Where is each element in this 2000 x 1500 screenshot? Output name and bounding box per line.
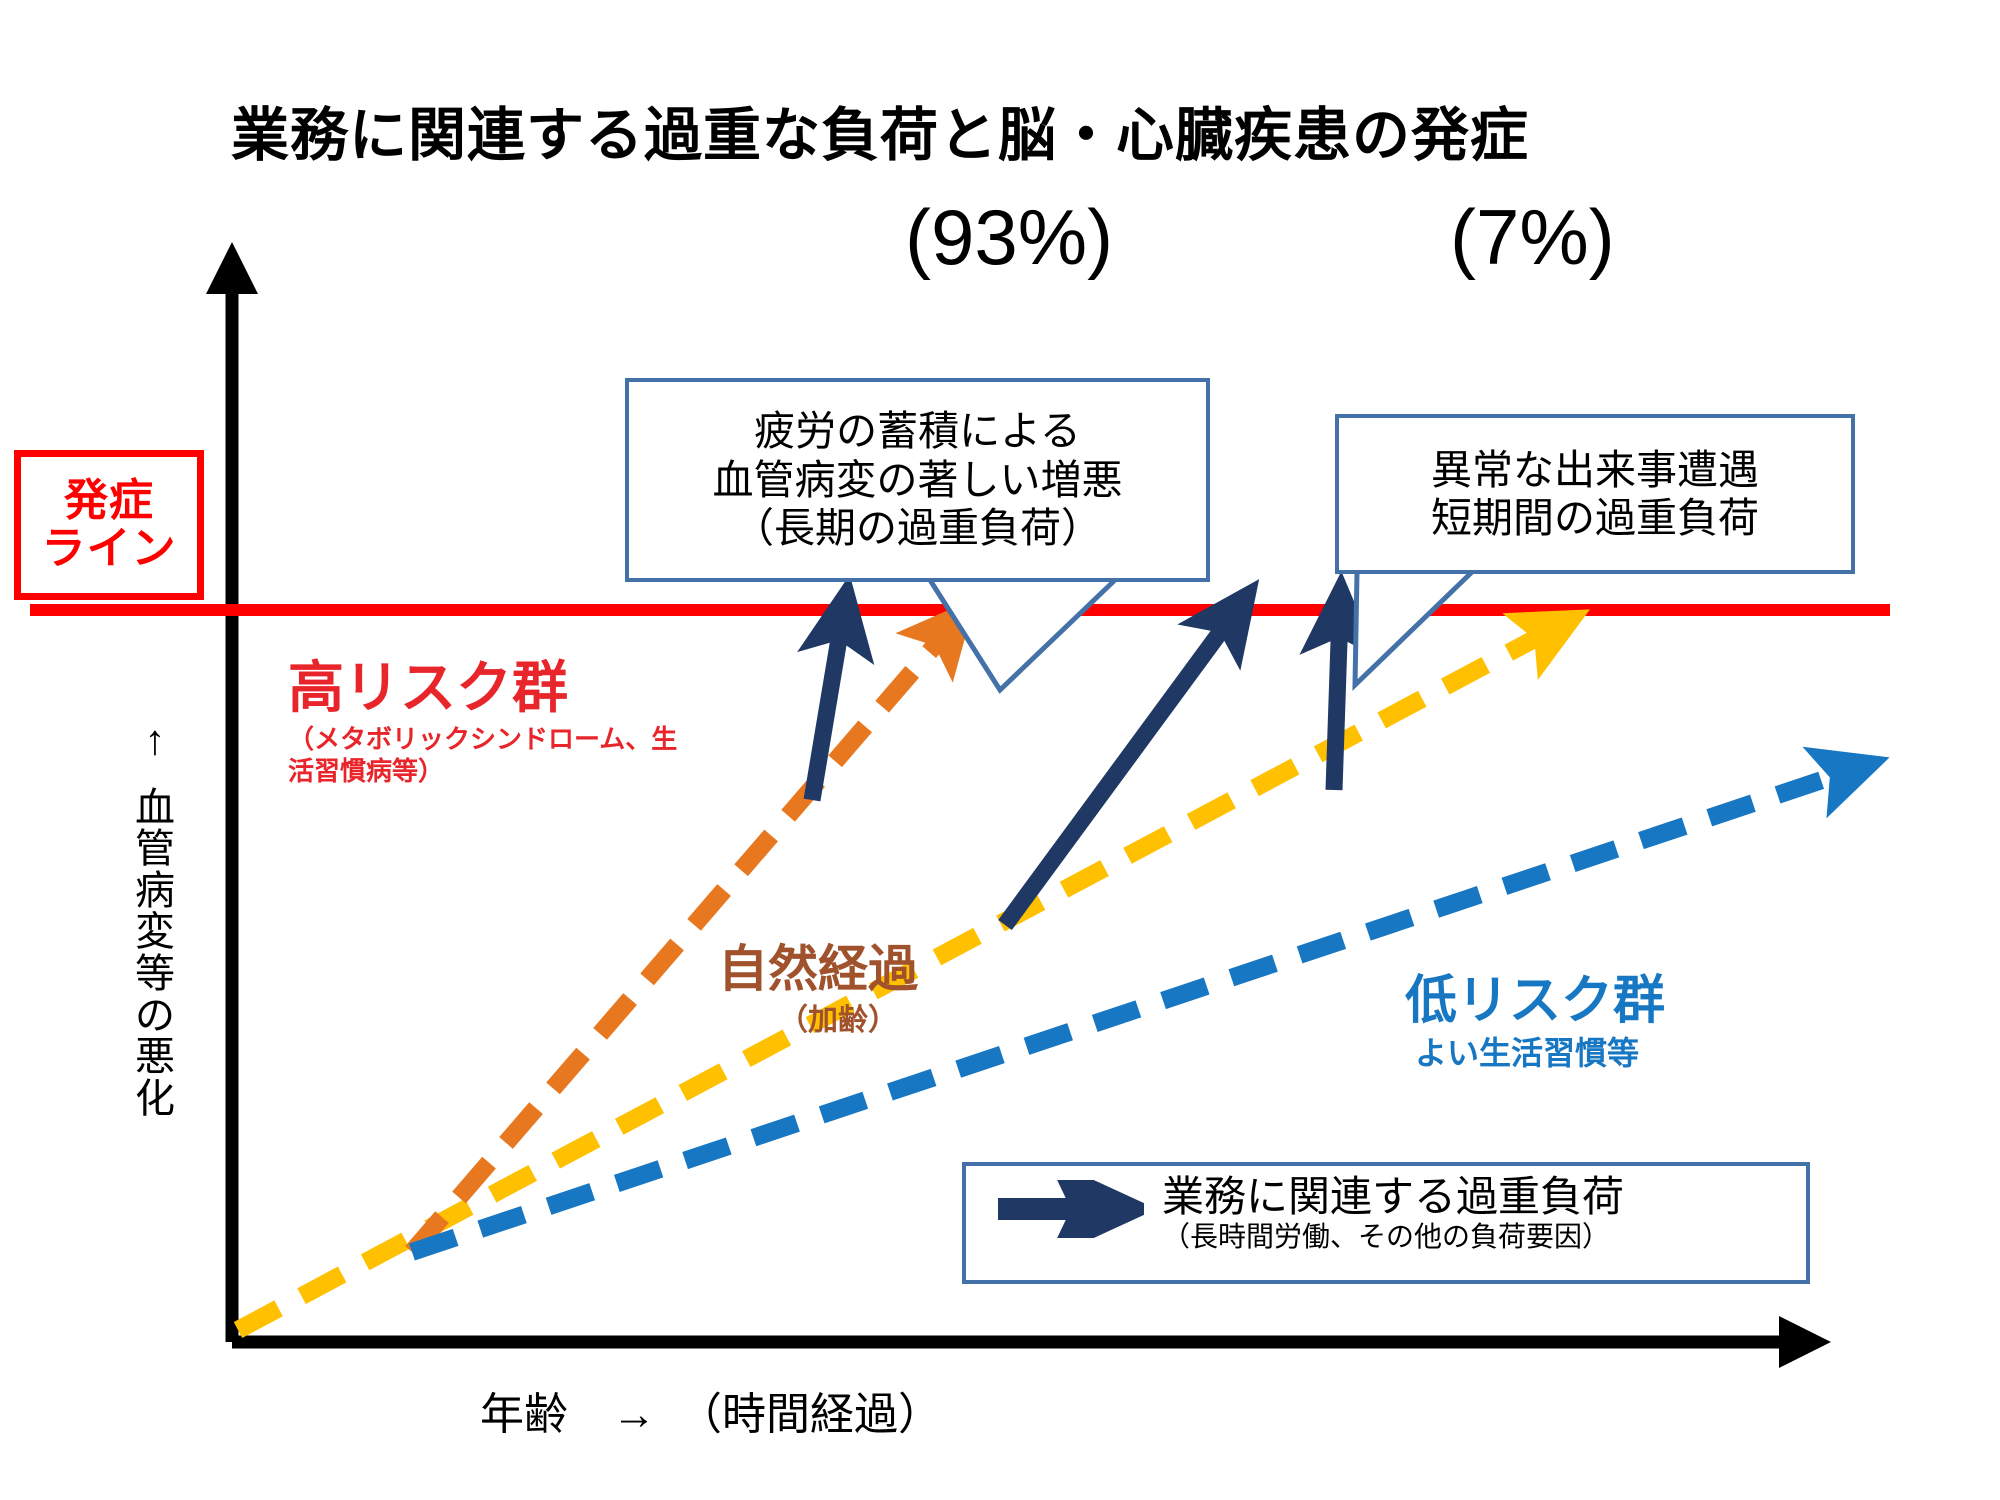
x-axis-label: 年齢 → （時間経過）	[480, 1378, 942, 1442]
onset-line-label-1: 発症	[64, 477, 154, 525]
high-risk-subtitle-line-1: （メタボリックシンドローム、生	[288, 724, 677, 756]
overload-arrow-icon	[994, 1180, 1144, 1238]
low-risk-subtitle: よい生活習慣等	[1415, 1037, 1665, 1069]
high-risk-title: 高リスク群	[288, 660, 677, 716]
natural-course-subtitle: （加齢）	[778, 1006, 918, 1036]
y-axis-char: 管	[120, 829, 190, 871]
y-axis-char: 変	[120, 912, 190, 954]
callout-tail-right	[1355, 572, 1472, 685]
y-axis-arrow-glyph: ↑	[120, 718, 190, 762]
percent-label-long-term: (93%)	[905, 192, 1113, 283]
overload-arrow-high-risk	[812, 615, 843, 800]
diagram-canvas: 業務に関連する過重な負荷と脳・心臓疾患の発症 (93%) (7%) 発症 ライン…	[0, 0, 2000, 1500]
callout-left-line-3: （長期の過重負荷）	[733, 504, 1102, 552]
callout-tail-left	[930, 580, 1115, 690]
page-title: 業務に関連する過重な負荷と脳・心臓疾患の発症	[0, 88, 1760, 172]
callout-left-line-2: 血管病変の著しい増悪	[713, 456, 1123, 504]
y-axis-char: 血	[120, 788, 190, 830]
high-risk-subtitle: （メタボリックシンドローム、生 活習慣病等）	[288, 724, 677, 787]
label-high-risk-group: 高リスク群 （メタボリックシンドローム、生 活習慣病等）	[288, 660, 677, 787]
y-axis-char: 等	[120, 954, 190, 996]
low-risk-title: 低リスク群	[1405, 975, 1665, 1027]
high-risk-subtitle-line-2: 活習慣病等）	[288, 756, 677, 788]
y-axis-char: 化	[120, 1079, 190, 1121]
callout-left-line-1: 疲労の蓄積による	[754, 407, 1081, 455]
y-axis-label: ↑ 血 管 病 変 等 の 悪 化	[120, 718, 190, 1120]
callout-short-term-overload: 異常な出来事遭遇 短期間の過重負荷	[1335, 414, 1855, 574]
y-axis-char: 悪	[120, 1037, 190, 1079]
label-natural-course: 自然経過 （加齢）	[718, 944, 918, 1036]
overload-arrow-short-term	[1334, 612, 1340, 790]
onset-line-label-box: 発症 ライン	[14, 450, 204, 600]
label-low-risk-group: 低リスク群 よい生活習慣等	[1405, 975, 1665, 1069]
legend-swatch-row	[994, 1180, 1144, 1238]
callout-long-term-overload: 疲労の蓄積による 血管病変の著しい増悪 （長期の過重負荷）	[625, 378, 1210, 582]
callout-right-line-1: 異常な出来事遭遇	[1431, 446, 1759, 494]
y-axis-char: の	[120, 996, 190, 1038]
percent-label-short-term: (7%)	[1450, 192, 1615, 283]
callout-right-line-2: 短期間の過重負荷	[1431, 494, 1759, 542]
legend-box: 業務に関連する過重負荷 （長時間労働、その他の負荷要因）	[962, 1162, 1810, 1284]
onset-line-label-2: ライン	[42, 525, 177, 573]
legend-line-2: （長時間労働、その他の負荷要因）	[1162, 1222, 1624, 1253]
legend-text: 業務に関連する過重負荷 （長時間労働、その他の負荷要因）	[1162, 1174, 1624, 1253]
y-axis-char: 病	[120, 871, 190, 913]
overload-arrow-natural-course	[1005, 612, 1235, 925]
legend-line-1: 業務に関連する過重負荷	[1162, 1174, 1624, 1220]
natural-course-title: 自然経過	[718, 944, 918, 994]
